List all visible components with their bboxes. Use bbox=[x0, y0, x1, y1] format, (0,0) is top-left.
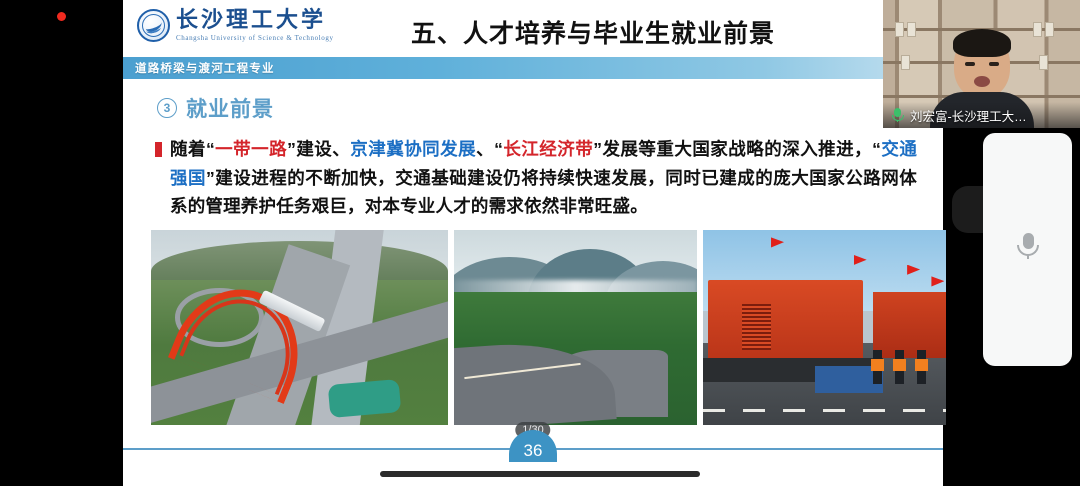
subject-band-label: 道路桥梁与渡河工程专业 bbox=[123, 60, 275, 76]
microphone-icon[interactable] bbox=[1017, 233, 1039, 259]
presentation-slide[interactable]: 长沙理工大学 Changsha University of Science & … bbox=[123, 0, 943, 486]
right-side-panel[interactable] bbox=[983, 133, 1072, 366]
participant-name: 刘宏富-长沙理工大… bbox=[910, 106, 1027, 125]
mountain-road-misty-peaks-photo bbox=[454, 230, 697, 425]
home-indicator-bar[interactable] bbox=[380, 471, 700, 477]
body-paragraph-row: 随着“一带一路”建设、京津冀协同发展、“长江经济带”发展等重大国家战略的深入推进… bbox=[149, 135, 917, 221]
slide-body: 3 就业前景 随着“一带一路”建设、京津冀协同发展、“长江经济带”发展等重大国家… bbox=[123, 93, 943, 474]
bullet-square-icon bbox=[155, 142, 162, 157]
slide-header: 长沙理工大学 Changsha University of Science & … bbox=[123, 0, 943, 57]
page-number-value: 36 bbox=[524, 442, 543, 459]
screen-root: 长沙理工大学 Changsha University of Science & … bbox=[0, 0, 1080, 486]
section-number-badge: 3 bbox=[157, 98, 177, 118]
body-paragraph: 随着“一带一路”建设、京津冀协同发展、“长江经济带”发展等重大国家战略的深入推进… bbox=[170, 135, 917, 221]
recording-indicator-dot bbox=[57, 12, 66, 21]
drag-handle-knob-icon[interactable] bbox=[952, 186, 983, 233]
participant-video-tile[interactable]: 刘宏富-长沙理工大… bbox=[883, 0, 1080, 128]
slide-title: 五、人才培养与毕业生就业前景 bbox=[123, 14, 943, 50]
microphone-icon bbox=[891, 108, 904, 123]
section-title: 就业前景 bbox=[186, 93, 274, 123]
photo-strip bbox=[149, 230, 917, 425]
highway-interchange-red-arch-bridge-photo bbox=[151, 230, 448, 425]
participant-name-bar: 刘宏富-长沙理工大… bbox=[883, 102, 1080, 128]
section-heading: 3 就业前景 bbox=[149, 93, 917, 123]
road-paving-machinery-photo bbox=[703, 230, 946, 425]
subject-band: 道路桥梁与渡河工程专业 bbox=[123, 57, 943, 79]
